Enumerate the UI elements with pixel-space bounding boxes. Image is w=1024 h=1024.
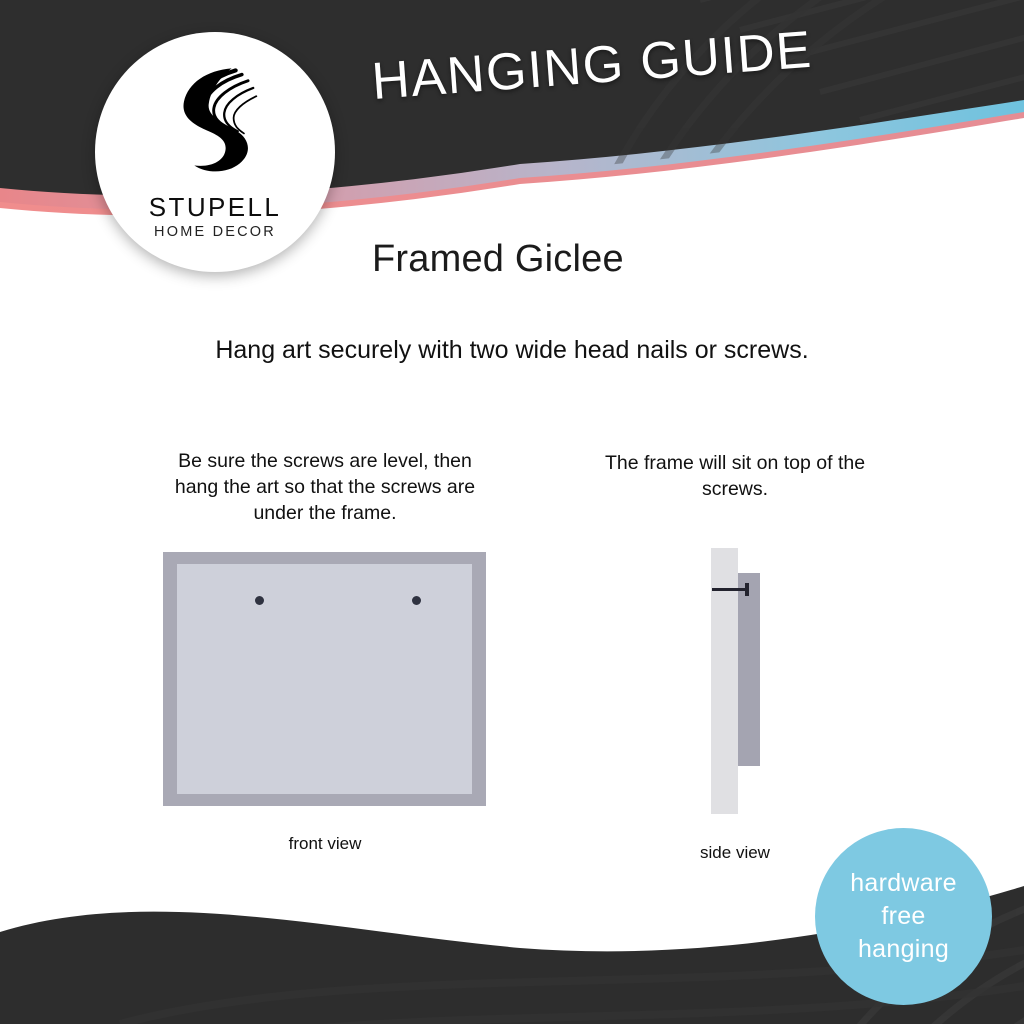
- lead-instruction: Hang art securely with two wide head nai…: [0, 336, 1024, 365]
- screw-head-icon: [745, 583, 749, 596]
- screw-shaft-icon: [712, 588, 748, 591]
- front-view-diagram: [163, 552, 486, 806]
- screw-mark-right: [412, 596, 421, 605]
- front-view-label: front view: [205, 834, 445, 854]
- front-view-caption: Be sure the screws are level, then hang …: [160, 448, 490, 526]
- side-view-label: side view: [620, 843, 850, 863]
- hardware-free-badge: hardware free hanging: [815, 828, 992, 1005]
- product-name: Framed Giclee: [372, 238, 624, 281]
- badge-line-3: hanging: [858, 933, 949, 966]
- badge-line-2: free: [881, 900, 925, 933]
- brand-tagline: HOME DECOR: [95, 224, 335, 240]
- badge-line-1: hardware: [850, 867, 957, 900]
- hanging-guide-page: HANGING GUIDE STUPELL HOME DECOR Framed …: [0, 0, 1024, 1024]
- brand-logo-badge: STUPELL HOME DECOR: [95, 32, 335, 272]
- page-title: HANGING GUIDE: [370, 14, 893, 112]
- screw-mark-left: [255, 596, 264, 605]
- stupell-swirl-logo-icon: [153, 58, 277, 182]
- side-view-caption: The frame will sit on top of the screws.: [600, 450, 870, 502]
- frame-artwork-area: [177, 564, 472, 794]
- frame-strip: [738, 573, 760, 766]
- brand-name: STUPELL: [95, 192, 335, 223]
- side-view-diagram: [695, 540, 800, 825]
